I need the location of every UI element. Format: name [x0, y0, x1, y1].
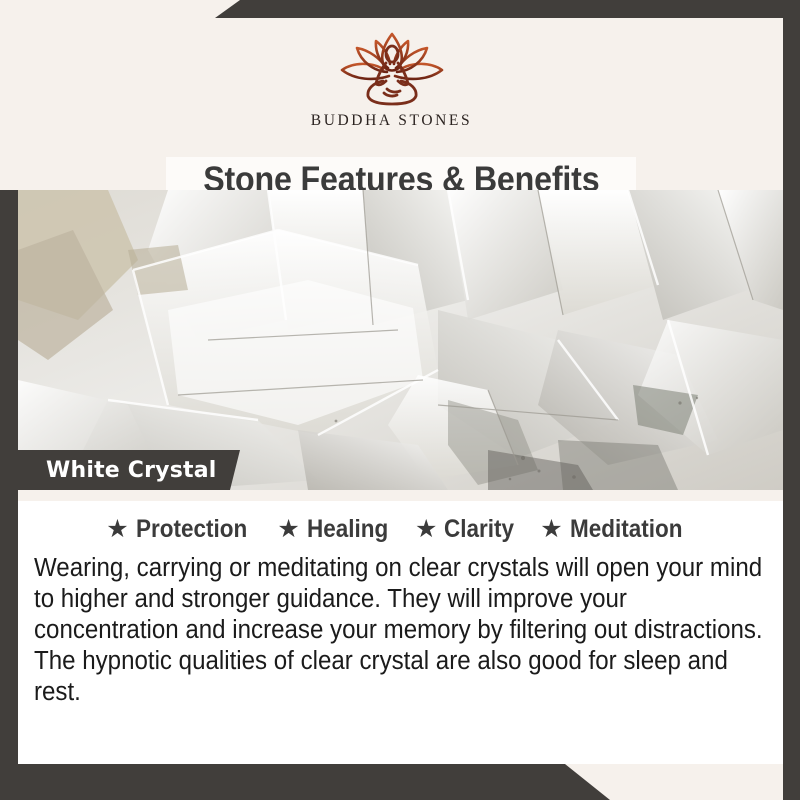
description-text: Wearing, carrying or meditating on clear… — [34, 553, 766, 708]
lotus-meditation-icon — [317, 26, 467, 110]
benefit-label: Healing — [307, 515, 388, 544]
benefit-item: ★ Meditation — [540, 515, 694, 544]
star-icon: ★ — [106, 517, 128, 542]
decor-top-bar — [215, 0, 800, 18]
benefit-item: ★ Protection — [106, 515, 259, 544]
benefit-label: Meditation — [570, 515, 683, 544]
decor-gap-strip — [18, 490, 783, 501]
hero-image — [18, 190, 783, 490]
header: BUDDHA STONES Stone Features & Benefits — [0, 18, 783, 190]
crystal-cluster-photo — [18, 190, 783, 490]
brand-logo: BUDDHA STONES — [0, 26, 783, 130]
benefit-label: Protection — [136, 515, 247, 544]
benefits-list: ★ Protection ★ Healing ★ Clarity ★ Medit… — [18, 501, 783, 544]
infographic-poster: BUDDHA STONES Stone Features & Benefits — [0, 0, 800, 800]
decor-right-strip — [783, 0, 800, 800]
decor-bottom-right-notch — [783, 764, 800, 800]
content-panel: ★ Protection ★ Healing ★ Clarity ★ Medit… — [18, 501, 783, 764]
benefit-item: ★ Clarity — [415, 515, 522, 544]
star-icon: ★ — [277, 517, 299, 542]
star-icon: ★ — [540, 517, 562, 542]
benefit-item: ★ Healing — [277, 515, 397, 544]
hero-label-text: White Crystal — [18, 458, 217, 483]
decor-left-strip — [0, 190, 18, 800]
star-icon: ★ — [415, 517, 437, 542]
decor-bottom-bar — [0, 764, 610, 800]
benefit-label: Clarity — [444, 515, 514, 544]
hero-label-badge: White Crystal — [18, 450, 240, 490]
brand-name: BUDDHA STONES — [311, 112, 472, 130]
